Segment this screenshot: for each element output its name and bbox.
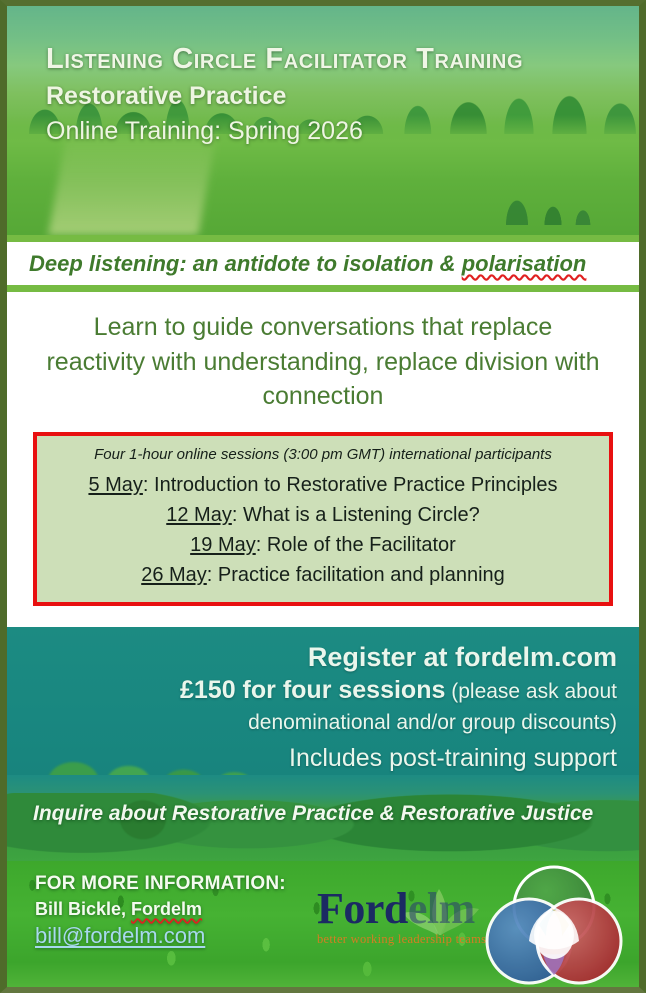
contact-block: FOR MORE INFORMATION: Bill Bickle, Forde… [35, 873, 286, 949]
register-price-line-2: denominational and/or group discounts) [29, 706, 617, 737]
session-separator: : [143, 474, 154, 496]
three-overlapping-circles-icon [481, 863, 627, 989]
session-date: 26 May [141, 564, 207, 586]
inquire-section: Inquire about Restorative Practice & Res… [7, 775, 639, 861]
register-price-note: (please ask about [445, 680, 617, 703]
fordelm-logo: Fordelm better working leadership teams [317, 887, 492, 955]
hero-header: Listening Circle Facilitator Training Re… [7, 6, 639, 235]
tagline-text: Deep listening: an antidote to isolation… [29, 251, 639, 276]
poster: Listening Circle Facilitator Training Re… [0, 0, 646, 993]
contact-name: Bill Bickle, Fordelm [35, 899, 286, 920]
session-topic: Practice facilitation and planning [218, 564, 505, 586]
hero-text-block: Listening Circle Facilitator Training Re… [7, 6, 639, 145]
tagline-misspelled-word: polarisation [462, 251, 587, 276]
footer-section: FOR MORE INFORMATION: Bill Bickle, Forde… [7, 861, 639, 993]
page-title: Listening Circle Facilitator Training [46, 44, 639, 76]
register-url-line[interactable]: Register at fordelm.com [29, 641, 617, 673]
session-date: 5 May [88, 474, 142, 496]
contact-org-misspelled: Fordelm [131, 899, 202, 919]
fordelm-logo-tagline: better working leadership teams [317, 932, 492, 947]
session-separator: : [256, 534, 267, 556]
register-support-line: Includes post-training support [29, 743, 617, 774]
contact-email-link[interactable]: bill@fordelm.com [35, 923, 205, 949]
fordelm-word-light: elm [408, 884, 475, 933]
session-date: 12 May [166, 504, 232, 526]
lede-paragraph: Learn to guide conversations that replac… [45, 310, 601, 414]
schedule-row: 5 May: Introduction to Restorative Pract… [49, 470, 597, 500]
page-subtitle: Restorative Practice [46, 82, 639, 111]
contact-name-text: Bill Bickle, [35, 899, 131, 919]
fordelm-word-dark: Ford [317, 884, 408, 933]
register-price-note-2: denominational and/or group discounts) [248, 711, 617, 734]
divider-rule-bottom [7, 285, 639, 292]
session-topic: What is a Listening Circle? [243, 504, 480, 526]
session-topic: Role of the Facilitator [267, 534, 456, 556]
register-price-line: £150 for four sessions (please ask about [29, 675, 617, 706]
register-price: £150 for four sessions [180, 676, 445, 704]
session-separator: : [207, 564, 218, 586]
schedule-note: Four 1-hour online sessions (3:00 pm GMT… [49, 446, 597, 463]
hero-shrub-decoration [481, 135, 601, 225]
register-text-block: Register at fordelm.com £150 for four se… [7, 627, 639, 774]
session-separator: : [232, 504, 243, 526]
tagline-band: Deep listening: an antidote to isolation… [7, 242, 639, 285]
register-section: Register at fordelm.com £150 for four se… [7, 627, 639, 775]
page-session-line: Online Training: Spring 2026 [46, 117, 639, 146]
schedule-row: 19 May: Role of the Facilitator [49, 530, 597, 560]
fordelm-wordmark: Fordelm [317, 887, 492, 931]
body-spacer [7, 606, 639, 627]
schedule-row: 26 May: Practice facilitation and planni… [49, 560, 597, 590]
inquire-text: Inquire about Restorative Practice & Res… [33, 801, 639, 826]
body-content: Learn to guide conversations that replac… [7, 292, 639, 606]
divider-rule-top [7, 235, 639, 242]
schedule-box: Four 1-hour online sessions (3:00 pm GMT… [33, 432, 613, 606]
contact-heading: FOR MORE INFORMATION: [35, 873, 286, 895]
session-topic: Introduction to Restorative Practice Pri… [154, 474, 558, 496]
footer-content: FOR MORE INFORMATION: Bill Bickle, Forde… [7, 861, 639, 993]
inquire-text-block: Inquire about Restorative Practice & Res… [7, 775, 639, 826]
tagline-text-main: Deep listening: an antidote to isolation… [29, 251, 462, 276]
session-date: 19 May [190, 534, 256, 556]
schedule-row: 12 May: What is a Listening Circle? [49, 500, 597, 530]
